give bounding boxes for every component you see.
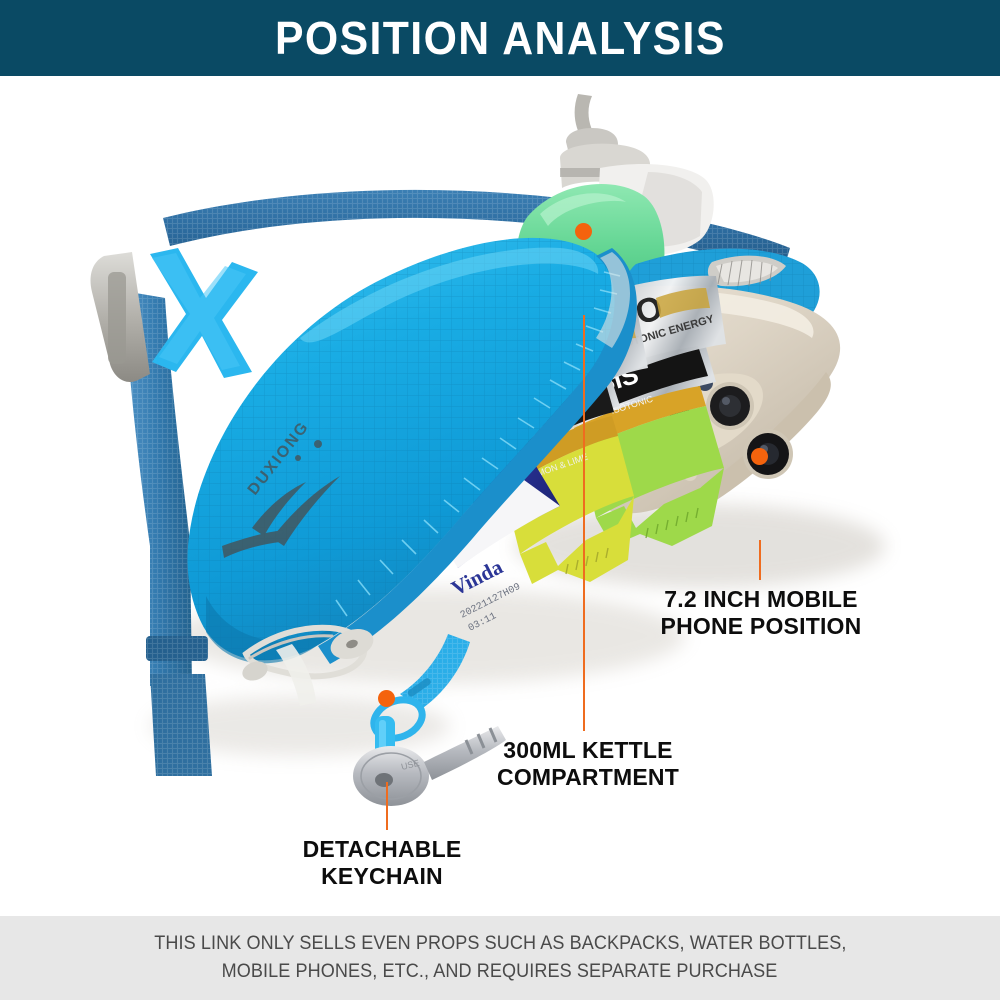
callout-label-kettle: 300ML KETTLE COMPARTMENT xyxy=(494,737,682,791)
callout-kettle-line1: 300ML KETTLE xyxy=(503,737,672,763)
leader-line-kettle xyxy=(583,315,585,731)
callout-phone-line1: 7.2 INCH MOBILE xyxy=(664,586,857,612)
callout-dot-kettle xyxy=(575,223,592,240)
callout-dot-keychain xyxy=(378,690,395,707)
leader-line-keychain xyxy=(386,782,388,830)
leader-line-phone xyxy=(759,540,761,580)
callout-keychain-line1: DETACHABLE xyxy=(303,836,462,862)
footer-disclaimer-band: THIS LINK ONLY SELLS EVEN PROPS SUCH AS … xyxy=(0,916,1000,1000)
callout-label-keychain: DETACHABLE KEYCHAIN xyxy=(300,836,464,890)
footer-line-1: THIS LINK ONLY SELLS EVEN PROPS SUCH AS … xyxy=(154,930,846,958)
header-bar: POSITION ANALYSIS xyxy=(0,0,1000,76)
callout-keychain-line2: KEYCHAIN xyxy=(300,863,464,890)
callout-kettle-line2: COMPARTMENT xyxy=(494,764,682,791)
callout-label-phone: 7.2 INCH MOBILE PHONE POSITION xyxy=(655,586,867,640)
callout-phone-line2: PHONE POSITION xyxy=(655,613,867,640)
infographic-page: POSITION ANALYSIS xyxy=(0,0,1000,1000)
page-title: POSITION ANALYSIS xyxy=(275,15,726,61)
strap-buckle xyxy=(91,248,259,382)
footer-line-2: MOBILE PHONES, ETC., AND REQUIRES SEPARA… xyxy=(222,958,778,986)
callout-dot-phone xyxy=(751,448,768,465)
